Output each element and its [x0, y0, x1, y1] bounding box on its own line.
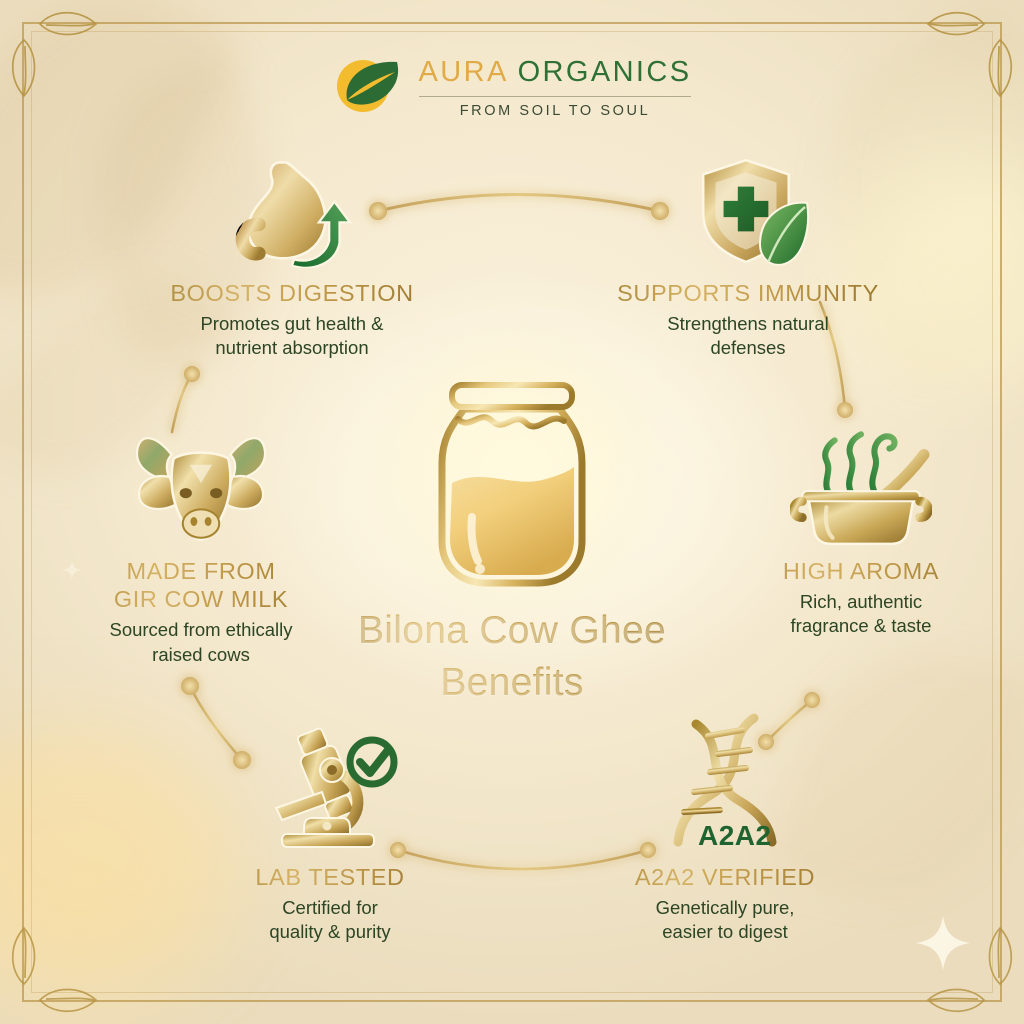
benefit-description: Certified for quality & purity: [205, 896, 455, 945]
center-title-line1: Bilona Cow Ghee: [358, 609, 666, 652]
microscope-check-icon: [205, 722, 455, 852]
benefit-title: SUPPORTS IMMUNITY: [578, 280, 918, 307]
benefit-title: A2A2 VERIFIED: [578, 864, 872, 891]
benefit-desc-line2: fragrance & taste: [791, 615, 932, 636]
benefit-title-line1: MADE FROM: [126, 558, 275, 584]
benefit-supports-immunity: SUPPORTS IMMUNITY Strengthens natural de…: [578, 158, 918, 361]
brand-tagline: FROM SOIL TO SOUL: [460, 103, 651, 119]
benefit-title: BOOSTS DIGESTION: [122, 280, 462, 307]
benefit-high-aroma: HIGH AROMA Rich, authentic fragrance & t…: [716, 418, 1006, 639]
cooking-pot-steam-icon: [716, 418, 1006, 546]
benefit-desc-line1: Rich, authentic: [800, 591, 922, 612]
leaf-corner-ornament-icon: [904, 904, 1024, 1024]
brand-name-part2: ORGANICS: [518, 56, 692, 88]
benefit-desc-line1: Certified for: [282, 897, 378, 918]
sparkle-star-icon: [914, 914, 972, 972]
brand-header: AURA ORGANICS FROM SOIL TO SOUL: [0, 50, 1024, 140]
a2a2-badge-label: A2A2: [698, 820, 772, 852]
brand-name-part1: AURA: [419, 56, 508, 88]
benefit-desc-line1: Sourced from ethically: [109, 619, 292, 640]
benefit-title: MADE FROM GIR COW MILK: [46, 558, 356, 613]
benefit-title-line2: GIR COW MILK: [114, 586, 288, 612]
benefit-desc-line2: nutrient absorption: [215, 337, 368, 358]
benefit-desc-line2: quality & purity: [269, 921, 390, 942]
benefit-desc-line1: Genetically pure,: [656, 897, 795, 918]
benefit-desc-line2: raised cows: [152, 644, 250, 665]
benefit-title: HIGH AROMA: [716, 558, 1006, 585]
shield-cross-leaf-icon: [578, 158, 918, 268]
benefit-lab-tested: LAB TESTED Certified for quality & purit…: [205, 722, 455, 945]
benefit-desc-line2: easier to digest: [662, 921, 787, 942]
benefit-desc-line1: Strengthens natural: [667, 313, 828, 334]
benefit-description: Strengthens natural defenses: [578, 312, 918, 361]
ghee-jar-icon: [414, 345, 610, 593]
leaf-sun-logo-icon: [333, 52, 405, 124]
brand-divider: [419, 96, 692, 97]
benefit-description: Rich, authentic fragrance & taste: [716, 590, 1006, 639]
brand-name: AURA ORGANICS: [419, 56, 692, 89]
infographic-poster: AURA ORGANICS FROM SOIL TO SOUL: [0, 0, 1024, 1024]
cow-head-icon: [46, 418, 356, 546]
stomach-arrow-icon: [122, 158, 462, 268]
benefit-description: Genetically pure, easier to digest: [578, 896, 872, 945]
benefit-desc-line2: defenses: [710, 337, 785, 358]
benefit-made-from-gir-cow-milk: MADE FROM GIR COW MILK Sourced from ethi…: [46, 418, 356, 667]
benefit-description: Sourced from ethically raised cows: [46, 618, 356, 667]
center-title-line2: Benefits: [440, 661, 583, 704]
background-glow: [0, 724, 230, 984]
benefit-boosts-digestion: BOOSTS DIGESTION Promotes gut health & n…: [122, 158, 462, 361]
benefit-title: LAB TESTED: [205, 864, 455, 891]
benefit-desc-line1: Promotes gut health &: [200, 313, 383, 334]
benefit-description: Promotes gut health & nutrient absorptio…: [122, 312, 462, 361]
